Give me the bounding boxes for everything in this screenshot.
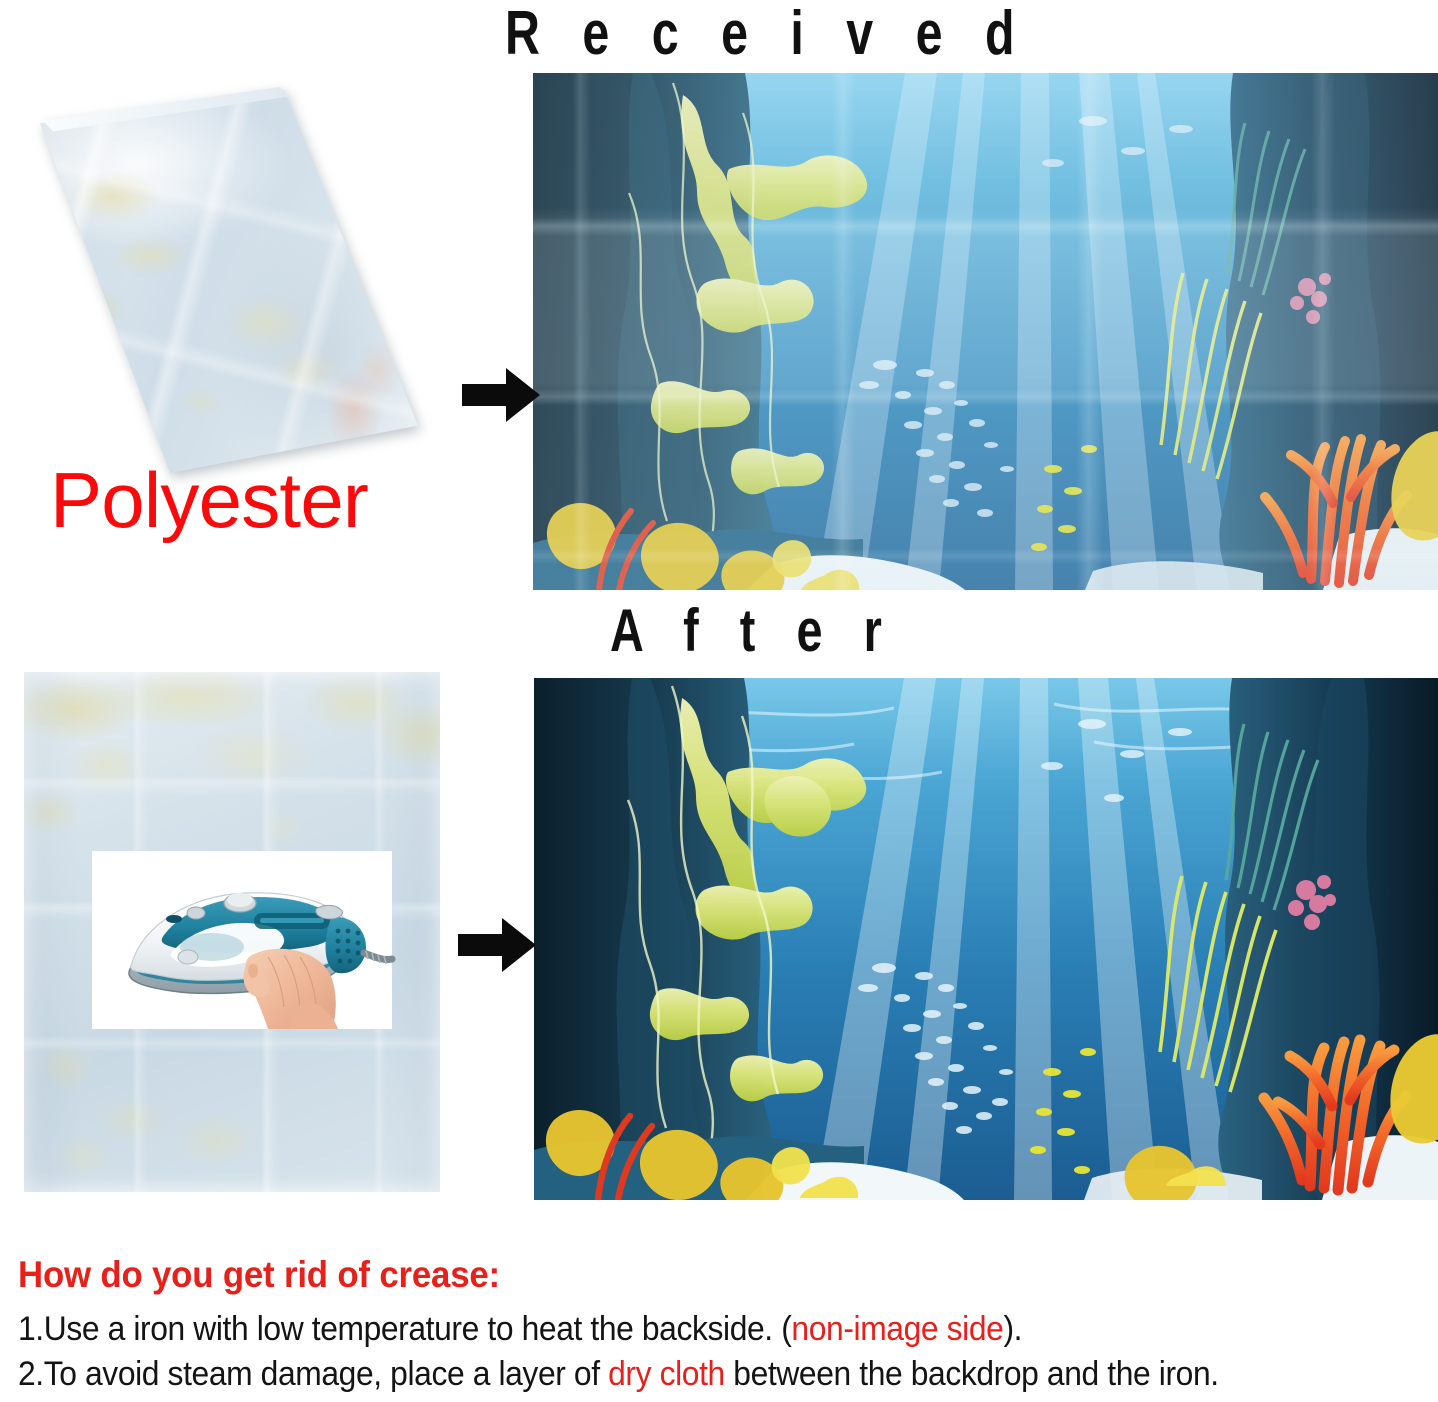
reef-backdrop-smooth xyxy=(534,678,1438,1200)
right-arrow-icon xyxy=(462,366,540,429)
instruction-line-2: 2.To avoid steam damage, place a layer o… xyxy=(18,1352,1338,1397)
page-title-after: A f t e r xyxy=(610,596,896,665)
fabric-fold-body xyxy=(18,78,418,473)
instruction-2-prefix: 2.To avoid steam damage, place a layer o… xyxy=(18,1355,608,1393)
right-arrow-icon xyxy=(458,916,536,979)
folded-polyester-backdrop xyxy=(18,78,418,473)
instruction-1-highlight: non-image side xyxy=(791,1310,1003,1348)
instruction-1-prefix: 1.Use a iron with low temperature to hea… xyxy=(18,1310,791,1348)
infographic-canvas: R e c e i v e d A f t e r Polyester xyxy=(0,0,1438,1402)
instructions-block: How do you get rid of crease: 1.Use a ir… xyxy=(18,1252,1430,1397)
instructions-heading: How do you get rid of crease: xyxy=(18,1252,1345,1298)
fabric-crease-lines xyxy=(18,78,418,473)
reef-backdrop-creased xyxy=(533,73,1438,590)
page-title-received: R e c e i v e d xyxy=(505,0,1029,69)
instruction-2-suffix: between the backdrop and the iron. xyxy=(725,1355,1219,1393)
instruction-1-suffix: ). xyxy=(1003,1310,1022,1348)
material-label-polyester: Polyester xyxy=(50,455,368,546)
hand-ironing-photo xyxy=(92,851,392,1029)
instruction-2-highlight: dry cloth xyxy=(608,1355,725,1393)
instruction-line-1: 1.Use a iron with low temperature to hea… xyxy=(18,1307,1338,1352)
